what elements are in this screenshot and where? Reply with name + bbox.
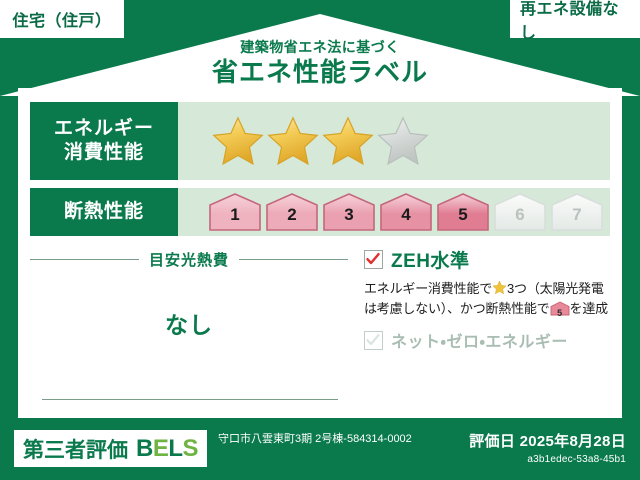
net-zero-energy-checkbox-unchecked-icon[interactable] xyxy=(364,331,383,350)
net-zero-energy-label: ネット・ゼロ・エネルギー xyxy=(391,328,568,352)
zeh-title: ZEH水準 xyxy=(391,246,470,273)
energy-performance-label: エネルギー 消費性能 xyxy=(30,102,178,180)
evaluation-date: 評価日 2025年8月28日 xyxy=(469,430,626,451)
net-zero-energy-row: ネット・ゼロ・エネルギー xyxy=(364,328,612,352)
main-panel: エネルギー 消費性能 断熱性能 1234567 目安光熱費 なし xyxy=(18,88,622,418)
zeh-desc-part2: 3つ（太陽光発電 xyxy=(507,281,604,296)
star-filled-icon xyxy=(267,115,319,167)
zeh-section: ZEH水準 エネルギー消費性能で 3つ（太陽光発電 は考慮しない）、かつ断熱性能… xyxy=(364,246,612,352)
zeh-checkbox-checked-icon[interactable] xyxy=(364,250,383,269)
bels-logo: 第三者評価 BELS xyxy=(14,430,207,467)
property-address: 守口市八雲東町3期 2号棟-584314-0002 xyxy=(218,432,448,447)
utility-cost-value: なし xyxy=(30,306,348,340)
badge-building-type: 住宅（住戸） xyxy=(0,0,124,38)
zeh-desc-part3: は考慮しない）、かつ断熱性能で xyxy=(364,301,550,316)
badge-renewable-equipment: 再エネ設備なし xyxy=(510,0,640,38)
inline-house-icon: 5 xyxy=(550,301,570,316)
utility-cost-section: 目安光熱費 なし xyxy=(30,248,348,406)
footer: 第三者評価 BELS 守口市八雲東町3期 2号棟-584314-0002 評価日… xyxy=(0,418,640,480)
insulation-house-filled: 5 xyxy=(436,192,490,232)
zeh-desc-part1: エネルギー消費性能で xyxy=(364,281,492,296)
evaluation-date-label: 評価日 xyxy=(469,433,515,450)
insulation-house-filled: 4 xyxy=(379,192,433,232)
insulation-label-text: 断熱性能 xyxy=(64,200,144,224)
energy-saving-performance-label: 建築物省エネ法に基づく 省エネ性能ラベル 住宅（住戸） 再エネ設備なし エネルギ… xyxy=(0,0,640,480)
zeh-header: ZEH水準 xyxy=(364,246,612,273)
insulation-level-scale: 1234567 xyxy=(178,188,610,236)
energy-label-line2: 消費性能 xyxy=(64,141,144,165)
energy-performance-row: エネルギー 消費性能 xyxy=(30,102,610,180)
star-filled-icon xyxy=(212,115,264,167)
heading-rule-left xyxy=(30,259,139,260)
evaluation-info: 評価日 2025年8月28日 a3b1edec-53a8-45b1 xyxy=(469,430,626,465)
inline-star-icon xyxy=(492,280,507,295)
utility-cost-heading: 目安光熱費 xyxy=(30,248,348,270)
star-rating xyxy=(178,102,610,180)
zeh-description: エネルギー消費性能で 3つ（太陽光発電 は考慮しない）、かつ断熱性能で 5 を達… xyxy=(364,279,612,319)
insulation-house-filled: 2 xyxy=(265,192,319,232)
insulation-performance-row: 断熱性能 1234567 xyxy=(30,188,610,236)
inline-house-number: 5 xyxy=(550,303,570,323)
evaluation-id: a3b1edec-53a8-45b1 xyxy=(469,454,626,465)
insulation-house-empty: 7 xyxy=(550,192,604,232)
bels-wordmark: BELS xyxy=(136,435,198,463)
heading-rule-right xyxy=(239,259,348,260)
star-empty-icon xyxy=(377,115,429,167)
star-filled-icon xyxy=(322,115,374,167)
insulation-house-filled: 1 xyxy=(208,192,262,232)
insulation-performance-label: 断熱性能 xyxy=(30,188,178,236)
utility-cost-heading-text: 目安光熱費 xyxy=(139,249,239,270)
insulation-house-empty: 6 xyxy=(493,192,547,232)
zeh-desc-part4: を達成 xyxy=(570,301,608,316)
insulation-house-filled: 3 xyxy=(322,192,376,232)
energy-label-line1: エネルギー xyxy=(54,117,154,141)
bels-third-party-text: 第三者評価 xyxy=(23,434,128,464)
evaluation-date-value: 2025年8月28日 xyxy=(520,433,626,450)
utility-cost-bottom-rule xyxy=(42,399,338,400)
